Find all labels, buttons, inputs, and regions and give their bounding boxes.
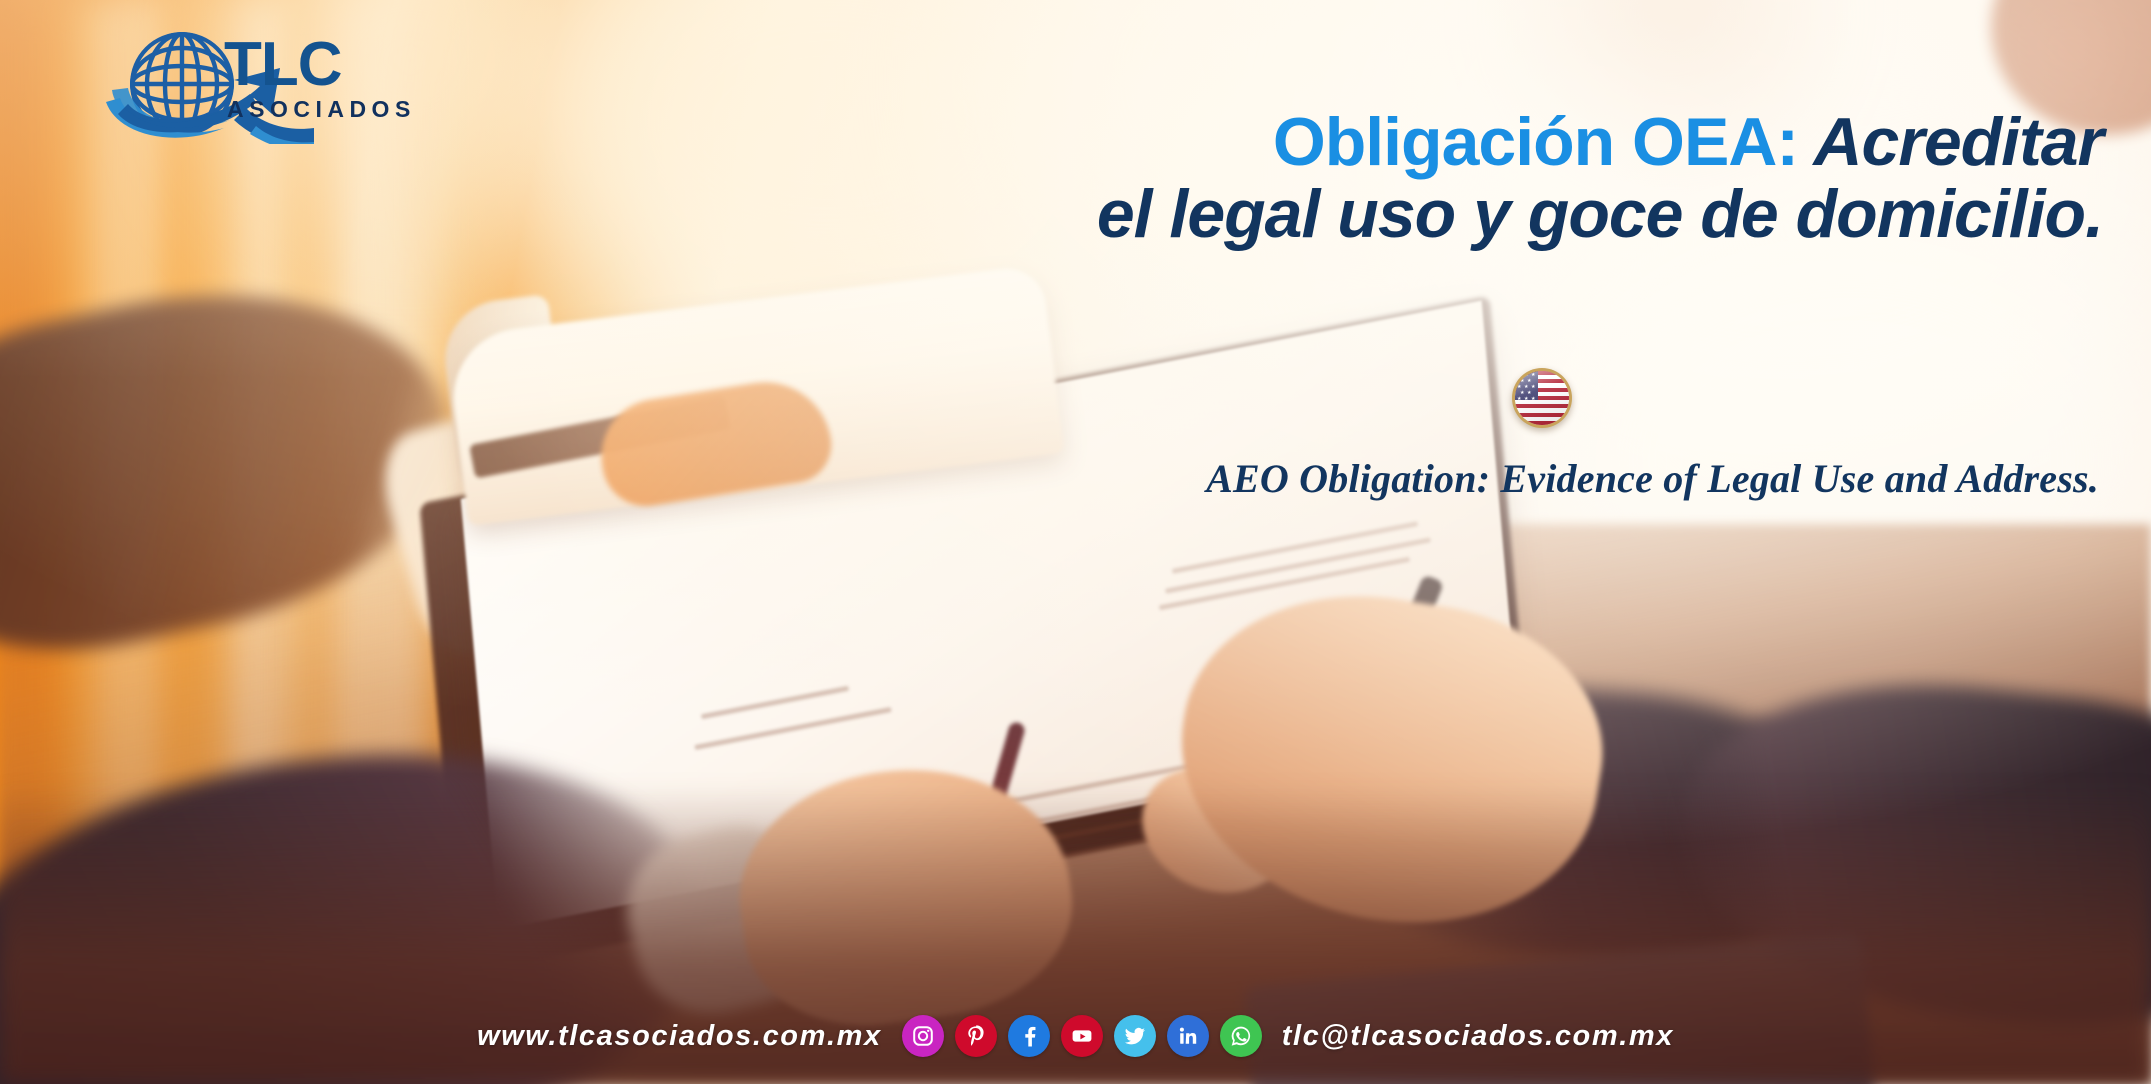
facebook-icon[interactable] [1008, 1015, 1050, 1057]
subtitle-english: AEO Obligation: Evidence of Legal Use an… [1206, 455, 2099, 502]
tlc-asociados-logo[interactable]: TLC ASOCIADOS [84, 24, 384, 144]
instagram-icon[interactable] [902, 1015, 944, 1057]
us-flag-icon: ★ ★ ★ ★ ★ ★ ★ ★ ★ ★ ★ ★ ★ [1512, 368, 1572, 428]
whatsapp-icon[interactable] [1220, 1015, 1262, 1057]
page-title: Obligación OEA: Acreditar el legal uso y… [1097, 106, 2103, 250]
linkedin-icon[interactable] [1167, 1015, 1209, 1057]
email-address[interactable]: tlc@tlcasociados.com.mx [1282, 1020, 1674, 1053]
logo-wordmark: TLC [224, 34, 416, 96]
headline-line1-rest: Acreditar [1798, 104, 2103, 180]
headline-highlight: Obligación OEA: [1273, 104, 1798, 180]
pinterest-icon[interactable] [955, 1015, 997, 1057]
social-links [902, 1015, 1262, 1057]
twitter-icon[interactable] [1114, 1015, 1156, 1057]
website-url[interactable]: www.tlcasociados.com.mx [477, 1020, 882, 1053]
headline-line2: el legal uso y goce de domicilio. [1097, 176, 2103, 252]
footer-bar: www.tlcasociados.com.mx [0, 988, 2151, 1084]
logo-tagline: ASOCIADOS [227, 98, 416, 121]
promotional-banner: TLC ASOCIADOS Obligación OEA: Acreditar … [0, 0, 2151, 1084]
youtube-icon[interactable] [1061, 1015, 1103, 1057]
